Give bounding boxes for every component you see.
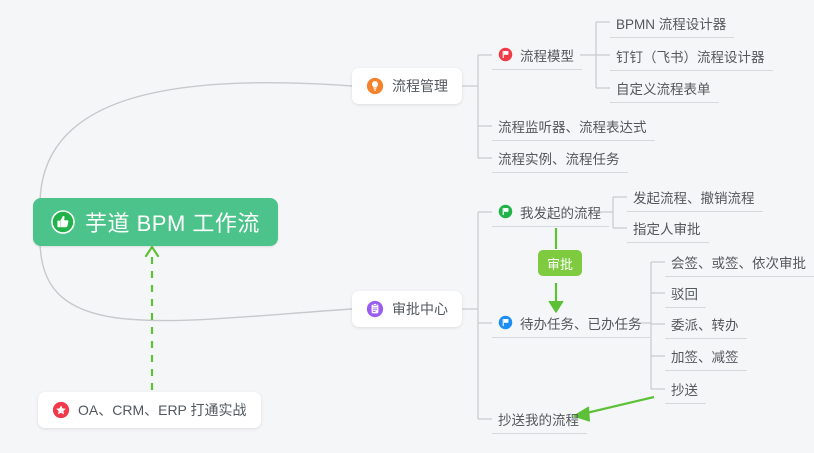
node-reject[interactable]: 驳回 (665, 278, 706, 308)
node-label-countersign: 会签、或签、依次审批 (671, 252, 806, 272)
link-root-to-approval-center (40, 240, 352, 321)
thumbs-up-icon (51, 210, 75, 234)
branch-label-process-management: 流程管理 (392, 76, 448, 96)
mindmap-canvas: 芋道 BPM 工作流 流程管理 流程模型 BPMN 流程设计器 钉钉（飞书）流程 (0, 0, 814, 453)
callout-approval-pill-label: 审批 (547, 254, 573, 273)
node-custom-form[interactable]: 自定义流程表单 (610, 73, 719, 103)
star-icon (52, 401, 70, 419)
branch-label-approval-center: 审批中心 (392, 299, 448, 319)
flag-icon-green (498, 204, 513, 219)
node-label-start-cancel-process: 发起流程、撤销流程 (633, 187, 755, 207)
node-process-instance[interactable]: 流程实例、流程任务 (492, 143, 628, 173)
node-label-process-instance: 流程实例、流程任务 (498, 148, 620, 168)
node-label-dingtalk-designer: 钉钉（飞书）流程设计器 (616, 46, 765, 66)
node-cc[interactable]: 抄送 (665, 374, 706, 404)
clipboard-icon (366, 300, 384, 318)
lightbulb-icon (366, 77, 384, 95)
annotation-node[interactable]: OA、CRM、ERP 打通实战 (38, 392, 261, 428)
node-delegate-transfer[interactable]: 委派、转办 (665, 309, 747, 339)
node-label-cc-to-me: 抄送我的流程 (498, 409, 579, 429)
node-process-listener[interactable]: 流程监听器、流程表达式 (492, 111, 655, 141)
branch-node-approval-center[interactable]: 审批中心 (352, 291, 462, 327)
node-label-add-remove-sign: 加签、减签 (671, 346, 739, 366)
node-countersign[interactable]: 会签、或签、依次审批 (665, 247, 814, 277)
flag-icon-blue (498, 315, 513, 330)
node-my-initiated[interactable]: 我发起的流程 (492, 197, 609, 227)
callout-approval-pill[interactable]: 审批 (538, 250, 582, 276)
arrow-annotation-to-root-head (146, 247, 158, 256)
node-label-delegate-transfer: 委派、转办 (671, 314, 739, 334)
branch-node-process-management[interactable]: 流程管理 (352, 68, 462, 104)
node-dingtalk-designer[interactable]: 钉钉（飞书）流程设计器 (610, 41, 773, 71)
node-label-process-model: 流程模型 (520, 45, 574, 65)
node-label-bpmn-designer: BPMN 流程设计器 (616, 13, 726, 33)
node-label-custom-form: 自定义流程表单 (616, 78, 711, 98)
node-label-reject: 驳回 (671, 283, 698, 303)
node-label-cc: 抄送 (671, 379, 698, 399)
node-assignee-approval[interactable]: 指定人审批 (627, 213, 709, 243)
root-label: 芋道 BPM 工作流 (85, 206, 260, 238)
root-node[interactable]: 芋道 BPM 工作流 (33, 198, 278, 246)
link-root-to-process-management (40, 83, 352, 205)
node-label-assignee-approval: 指定人审批 (633, 218, 701, 238)
node-cc-to-me[interactable]: 抄送我的流程 (492, 404, 587, 434)
node-label-todo-done-tasks: 待办任务、已办任务 (520, 313, 642, 333)
node-add-remove-sign[interactable]: 加签、减签 (665, 341, 747, 371)
node-label-process-listener: 流程监听器、流程表达式 (498, 116, 647, 136)
flag-icon-red (498, 47, 513, 62)
arrow-cc-to-ccmine (578, 397, 654, 415)
node-todo-done-tasks[interactable]: 待办任务、已办任务 (492, 308, 650, 338)
node-label-my-initiated: 我发起的流程 (520, 202, 601, 222)
node-bpmn-designer[interactable]: BPMN 流程设计器 (610, 8, 734, 38)
annotation-label: OA、CRM、ERP 打通实战 (78, 400, 247, 420)
node-start-cancel-process[interactable]: 发起流程、撤销流程 (627, 182, 763, 212)
node-process-model[interactable]: 流程模型 (492, 40, 582, 70)
